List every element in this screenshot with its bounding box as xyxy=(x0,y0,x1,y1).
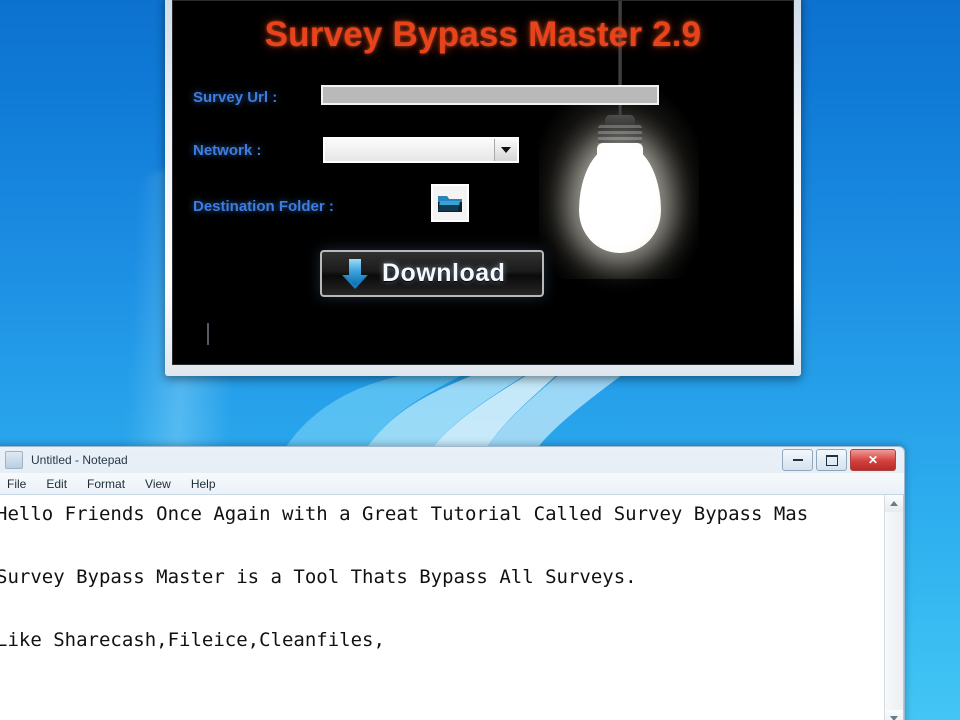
vertical-scrollbar[interactable] xyxy=(884,495,903,720)
lightbulb-screw-base xyxy=(598,125,642,151)
survey-url-label: Survey Url : xyxy=(193,89,277,106)
notepad-text-line: Like Sharecash,Fileice,Cleanfiles, xyxy=(0,625,884,657)
folder-icon xyxy=(436,191,464,215)
notepad-text-line xyxy=(0,594,884,626)
window-controls: ✕ xyxy=(782,449,896,471)
network-row: Network : xyxy=(193,142,261,160)
menu-item-format[interactable]: Format xyxy=(79,475,133,493)
menu-item-edit[interactable]: Edit xyxy=(38,475,75,493)
lightbulb-glow xyxy=(539,89,699,279)
scroll-down-icon[interactable] xyxy=(885,710,903,720)
menu-item-view[interactable]: View xyxy=(137,475,179,493)
notepad-text-content[interactable]: Hello Friends Once Again with a Great Tu… xyxy=(0,495,884,720)
network-label: Network : xyxy=(193,142,261,159)
browse-folder-button[interactable] xyxy=(431,184,469,222)
minimize-icon xyxy=(793,459,803,461)
minimize-button[interactable] xyxy=(782,449,813,471)
notepad-text-line: Survey Bypass Master is a Tool Thats Byp… xyxy=(0,562,884,594)
notepad-text-line xyxy=(0,531,884,563)
menu-item-file[interactable]: File xyxy=(0,475,34,493)
notepad-menubar: File Edit Format View Help xyxy=(0,473,904,495)
app-title: Survey Bypass Master 2.9 xyxy=(173,15,793,55)
scroll-up-icon[interactable] xyxy=(885,495,903,512)
destination-folder-row: Destination Folder : xyxy=(193,198,334,216)
survey-url-input[interactable] xyxy=(321,85,659,105)
notepad-window[interactable]: Untitled - Notepad ✕ File Edit Format Vi… xyxy=(0,446,905,720)
download-arrow-icon xyxy=(340,257,370,291)
notepad-text-area[interactable]: Hello Friends Once Again with a Great Tu… xyxy=(0,495,904,720)
app-screen: Survey Bypass Master 2.9 Survey Url : Ne… xyxy=(172,0,794,365)
notepad-text-line: Hello Friends Once Again with a Great Tu… xyxy=(0,499,884,531)
screen: Survey Bypass Master 2.9 Survey Url : Ne… xyxy=(0,0,960,720)
download-button[interactable]: Download xyxy=(320,250,544,297)
lightbulb-cord-knot xyxy=(605,115,635,127)
app-text-caret xyxy=(207,323,209,345)
notepad-title: Untitled - Notepad xyxy=(31,453,128,467)
maximize-button[interactable] xyxy=(816,449,847,471)
notepad-text-line xyxy=(0,657,884,689)
network-selected-value xyxy=(325,139,494,161)
maximize-icon xyxy=(826,455,838,466)
lightbulb-glass xyxy=(579,145,661,253)
notepad-text-line xyxy=(0,688,884,720)
close-button[interactable]: ✕ xyxy=(850,449,896,471)
chevron-down-icon[interactable] xyxy=(494,139,517,161)
destination-folder-label: Destination Folder : xyxy=(193,198,334,215)
network-dropdown[interactable] xyxy=(323,137,519,163)
menu-item-help[interactable]: Help xyxy=(183,475,224,493)
download-button-label: Download xyxy=(382,259,505,288)
close-icon: ✕ xyxy=(868,454,878,466)
lightbulb-neck xyxy=(597,143,643,165)
notepad-icon xyxy=(5,451,23,469)
survey-bypass-master-window[interactable]: Survey Bypass Master 2.9 Survey Url : Ne… xyxy=(165,0,801,376)
survey-url-row: Survey Url : xyxy=(193,89,277,107)
notepad-titlebar[interactable]: Untitled - Notepad ✕ xyxy=(0,447,904,473)
